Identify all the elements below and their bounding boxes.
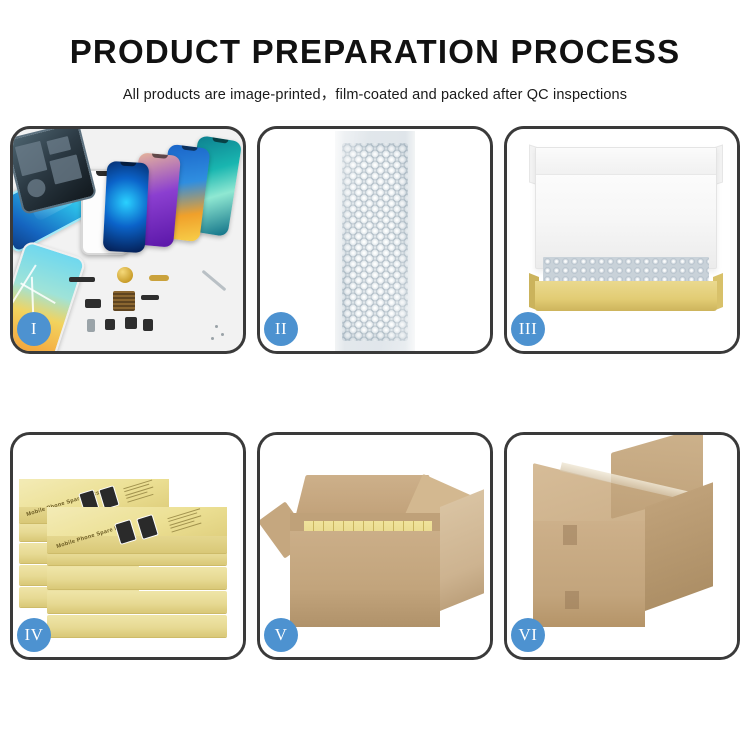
button-flex-icon — [149, 275, 169, 281]
volume-flex-icon — [141, 295, 159, 300]
sim-tray-icon — [87, 319, 95, 332]
step-panel-carton-filling: V — [257, 432, 493, 660]
white-box-lid-icon — [535, 147, 717, 269]
screw-icon — [215, 325, 218, 328]
speaker-mesh-icon — [117, 267, 133, 283]
steps-grid: I II III — [6, 126, 744, 660]
box-stack-icon: Mobile Phone Spare Parts Mobile Phone Sp… — [19, 451, 235, 651]
screw-icon — [211, 337, 214, 340]
bubble-wrapped-contents-icon — [543, 257, 709, 283]
carton-seam — [565, 591, 579, 609]
flex-cable-icon — [69, 277, 95, 282]
inner-box — [47, 591, 227, 613]
inner-box — [47, 567, 227, 589]
wrap-sheen — [335, 131, 415, 354]
product-preparation-infographic: PRODUCT PREPARATION PROCESS All products… — [0, 0, 750, 750]
carton-front-face — [290, 531, 440, 627]
earpiece-icon — [143, 319, 153, 331]
camera-module-icon — [85, 299, 101, 308]
screw-icon — [221, 333, 224, 336]
battery-connector-icon — [105, 319, 115, 330]
step-panel-products-and-spare-parts: I — [10, 126, 246, 354]
inner-box-printed: Mobile Phone Spare Parts — [47, 507, 227, 553]
carton-seam — [563, 525, 577, 545]
taptic-engine-icon — [125, 317, 137, 329]
header: PRODUCT PREPARATION PROCESS All products… — [0, 0, 750, 104]
bubble-wrap-sleeve-icon — [335, 131, 415, 354]
carton-front-face — [533, 521, 645, 627]
kraft-box-front-icon — [535, 281, 717, 311]
inner-box — [47, 615, 227, 637]
page-title: PRODUCT PREPARATION PROCESS — [0, 34, 750, 70]
page-subtitle: All products are image-printed，film-coat… — [0, 83, 750, 104]
carton-right-face — [440, 490, 484, 612]
step-panel-sealed-carton: VI — [504, 432, 740, 660]
phone-blue-icon — [103, 161, 150, 253]
ic-chip-icon — [113, 291, 135, 311]
tweezers-icon — [202, 270, 227, 292]
step-panel-inner-box-packing: III — [504, 126, 740, 354]
step-panel-bubble-wrap-packing: II — [257, 126, 493, 354]
step-panel-stacked-inner-boxes: Mobile Phone Spare Parts Mobile Phone Sp… — [10, 432, 246, 660]
